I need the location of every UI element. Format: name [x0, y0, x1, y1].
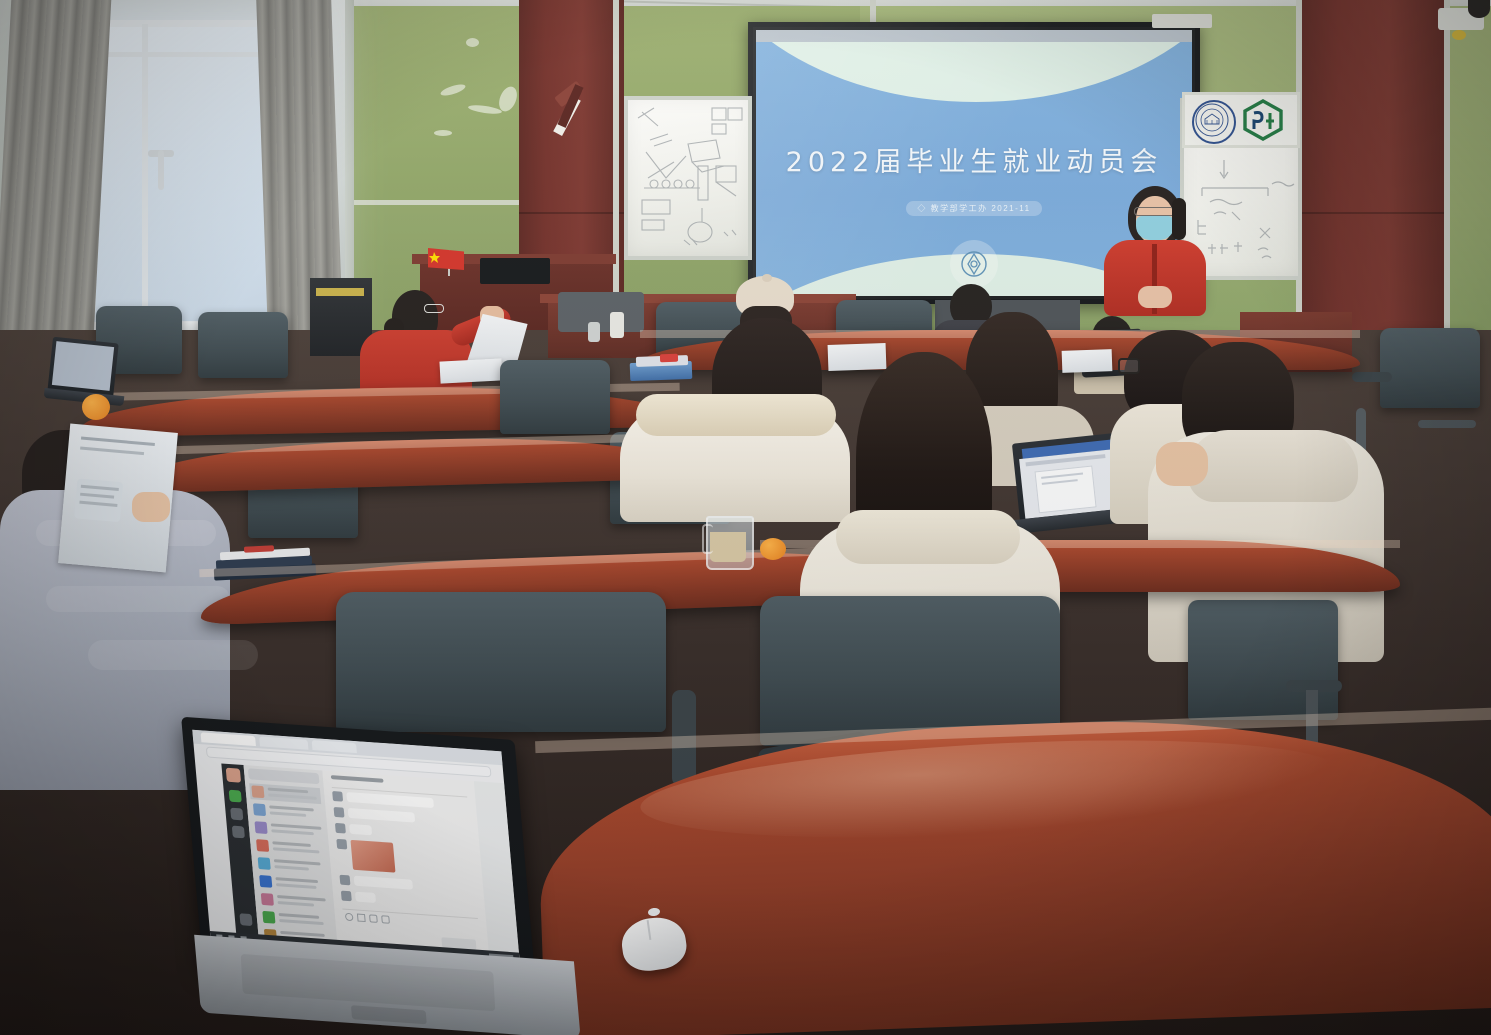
avatar — [258, 857, 271, 870]
list-item-preview — [270, 811, 307, 817]
avatar — [254, 821, 267, 834]
message-bubble — [348, 808, 416, 823]
chair-base — [1418, 420, 1476, 428]
slide-emblem-icon — [950, 240, 998, 288]
chair[interactable] — [198, 312, 288, 378]
history-icon[interactable] — [381, 915, 390, 924]
chair[interactable] — [500, 360, 610, 434]
column-seam — [519, 212, 624, 214]
papers-on-table — [828, 343, 887, 371]
chinese-flag-icon — [428, 248, 464, 270]
column-seam — [1302, 212, 1447, 214]
tangerine — [760, 538, 786, 560]
message-bubble — [354, 876, 413, 890]
wall-scuff — [434, 130, 452, 136]
chat-title — [331, 775, 384, 783]
wall-edge — [1444, 0, 1450, 345]
message-bubble — [355, 892, 376, 903]
list-item-title — [269, 805, 314, 811]
avatar[interactable] — [226, 768, 241, 783]
list-item-preview — [274, 865, 309, 870]
laptop-screen[interactable] — [192, 730, 520, 965]
screenshot-icon[interactable] — [369, 914, 378, 923]
avatar — [336, 839, 347, 850]
tangerine — [82, 394, 110, 420]
list-item-title — [277, 895, 326, 901]
file-icon[interactable] — [357, 914, 366, 923]
chair[interactable] — [1380, 328, 1480, 408]
message-bubble — [346, 792, 434, 808]
university-seal-icon — [1192, 100, 1236, 144]
wall-column-right — [1302, 0, 1447, 345]
classroom-photo: 2022届毕业生就业动员会 ◇ 教学部学工办 2021-11 — [0, 0, 1491, 1035]
list-item-title — [272, 841, 311, 847]
avatar — [341, 891, 352, 902]
list-item-preview — [271, 829, 314, 835]
emoji-icon[interactable] — [345, 913, 354, 922]
chair-arm — [1352, 372, 1392, 382]
cup-handle — [702, 524, 713, 554]
window-mullion — [90, 52, 286, 57]
cup-beverage — [710, 532, 746, 562]
desk-clutter — [588, 322, 600, 342]
presenter-face-mask — [1136, 216, 1174, 240]
presenter-ponytail — [1172, 198, 1186, 240]
files-icon[interactable] — [232, 826, 245, 839]
trackpad[interactable] — [351, 1005, 427, 1024]
message-bubble — [349, 824, 372, 836]
list-item-preview — [279, 919, 324, 925]
water-bottle — [610, 312, 624, 338]
avatar — [256, 839, 269, 852]
fur-collar — [636, 394, 836, 436]
slide-arc-top — [756, 42, 1192, 102]
window-mullion — [142, 24, 148, 324]
avatar — [261, 893, 274, 906]
papers-on-table — [1062, 349, 1113, 373]
hoodie-hood — [1188, 430, 1358, 502]
settings-icon[interactable] — [239, 913, 252, 926]
slide-title: 2022届毕业生就业动员会 — [756, 140, 1192, 179]
screen-roller-housing — [1152, 14, 1212, 28]
list-item-title — [268, 787, 309, 793]
student-glasses-icon — [1118, 358, 1140, 374]
monitor-rear — [558, 292, 644, 332]
puffer-seam — [46, 586, 230, 612]
chair[interactable] — [336, 592, 666, 732]
slide-subtitle: ◇ 教学部学工办 2021-11 — [906, 201, 1041, 216]
staff-glasses-icon — [424, 304, 444, 313]
avatar — [253, 803, 266, 816]
window-handle-stem[interactable] — [158, 150, 164, 190]
puffer-seam — [88, 640, 258, 670]
list-item-title — [275, 877, 318, 883]
list-item-preview — [273, 847, 320, 853]
student-hand — [132, 492, 170, 522]
keyboard[interactable] — [241, 954, 496, 1011]
avatar — [251, 785, 264, 798]
student-hand — [1156, 442, 1208, 486]
laptop-screen — [1019, 449, 1119, 518]
avatar — [335, 823, 346, 834]
speaker-indicator-icon — [1452, 30, 1466, 40]
beret-nub — [762, 274, 772, 282]
chat-panel[interactable] — [322, 771, 489, 957]
coat-collar — [836, 510, 1020, 564]
wall-scuff — [466, 38, 479, 47]
cabinet-label — [316, 288, 364, 296]
avatar — [259, 875, 272, 888]
list-item-title — [279, 913, 320, 919]
presenter-glasses-icon — [1134, 207, 1176, 216]
avatar — [332, 791, 343, 802]
ceiling-camera-icon — [1468, 0, 1490, 18]
presenter-hands — [1138, 286, 1172, 308]
chat-icon[interactable] — [229, 790, 242, 803]
avatar — [262, 911, 275, 924]
slide-subtitle-wrap: ◇ 教学部学工办 2021-11 — [756, 198, 1192, 216]
lectern-monitor — [480, 258, 550, 284]
avatar — [339, 875, 350, 886]
whiteboard-left — [624, 96, 752, 260]
laptop-screen — [52, 341, 114, 391]
list-item-preview — [268, 793, 317, 799]
avatar — [334, 807, 345, 818]
message-image[interactable] — [350, 840, 395, 873]
handout-paper — [439, 358, 502, 383]
foreground-laptop[interactable] — [183, 710, 580, 1035]
red-marker — [660, 354, 678, 363]
list-item-preview — [278, 901, 315, 907]
list-item-preview — [276, 883, 317, 889]
list-item-title — [274, 859, 321, 865]
search-input[interactable] — [248, 768, 320, 784]
contacts-icon[interactable] — [230, 808, 243, 821]
hexagon-psh-logo-icon — [1240, 99, 1286, 141]
